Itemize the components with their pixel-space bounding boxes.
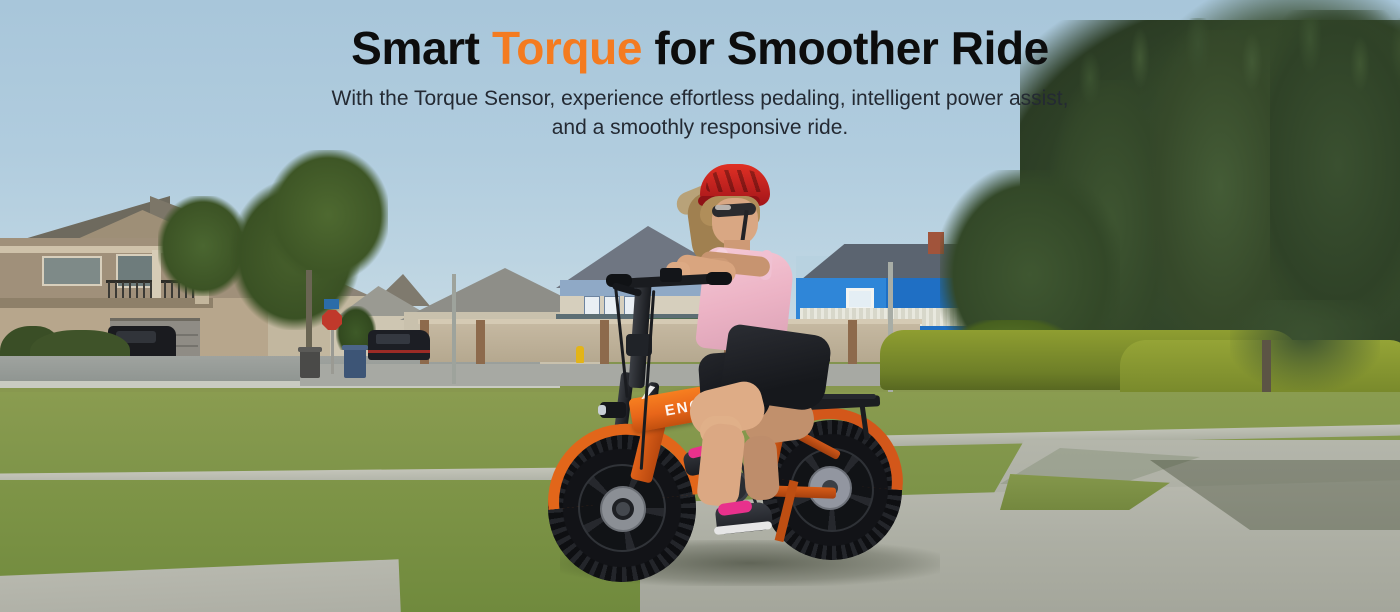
page-title: Smart Torque for Smoother Ride — [0, 22, 1400, 75]
left-house-window — [42, 256, 102, 286]
subheadline-line-1: With the Torque Sensor, experience effor… — [0, 85, 1400, 113]
wall-pillar — [848, 320, 857, 364]
car-stripe — [368, 350, 430, 353]
rider-far-shin — [742, 435, 780, 501]
trash-bin-lid — [298, 347, 322, 352]
rider-near-shin — [696, 422, 746, 508]
front-hub — [616, 502, 630, 516]
wall-pillar — [476, 320, 485, 364]
headline-accent-word: Torque — [492, 22, 642, 74]
block-wall — [420, 322, 920, 362]
headline-part-1: Smart — [351, 22, 492, 74]
recycle-bin — [344, 348, 366, 378]
headline-part-2: for Smoother Ride — [642, 22, 1049, 74]
hero-text-block: Smart Torque for Smoother Ride With the … — [0, 0, 1400, 142]
trash-bin — [300, 350, 320, 378]
fire-hydrant — [576, 346, 584, 363]
hero-subheadline: With the Torque Sensor, experience effor… — [0, 85, 1400, 142]
sunglasses-highlight — [715, 205, 731, 210]
subheadline-line-2: and a smoothly responsive ride. — [0, 114, 1400, 142]
blue-house-window — [846, 288, 874, 310]
car-window — [376, 334, 410, 344]
tree — [268, 150, 388, 280]
hero-banner: ENGWE Smart Torque for Smoother Ride — [0, 0, 1400, 612]
street-sign-icon — [324, 299, 339, 309]
porch-deck — [0, 298, 213, 308]
handlebar-grip-right — [706, 272, 732, 285]
light-pole — [452, 274, 456, 384]
stop-sign-icon — [322, 310, 342, 330]
bike-display — [660, 268, 682, 282]
block-wall-cap — [418, 319, 922, 324]
recycle-bin-lid — [342, 345, 368, 350]
headlight-lens — [598, 405, 606, 415]
tree — [1230, 300, 1380, 390]
wall-pillar — [600, 320, 609, 364]
helmet-vents — [706, 170, 764, 192]
